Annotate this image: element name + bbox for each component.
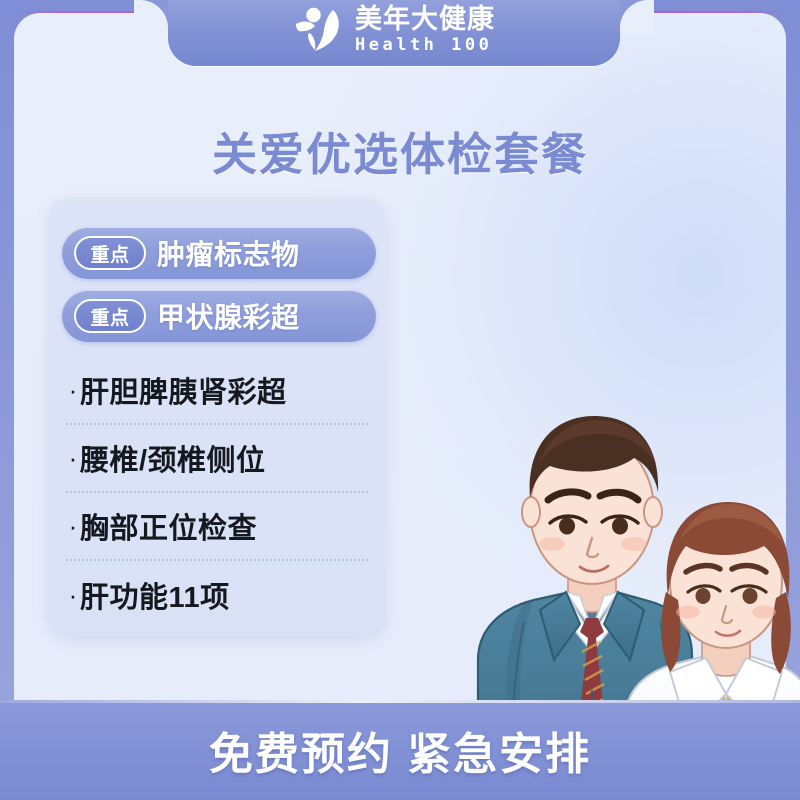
list-item-label: 腰椎/颈椎侧位 <box>80 437 266 479</box>
bullet-icon: · <box>66 582 80 608</box>
cta-banner-text: 免费预约 紧急安排 <box>209 718 591 782</box>
package-items-list: · 肝胆脾胰肾彩超 · 腰椎/颈椎侧位 · 胸部正位检查 · 肝功能11项 <box>66 357 368 629</box>
list-item[interactable]: · 腰椎/颈椎侧位 <box>66 425 368 493</box>
promotional-poster: 美年大健康 Health 100 关爱优选体检套餐 <box>0 0 800 800</box>
list-item-label: 胸部正位检查 <box>80 505 257 547</box>
brand-name-en: Health 100 <box>355 37 495 54</box>
highlight-item-thyroid-ultrasound[interactable]: 重点 甲状腺彩超 <box>62 290 376 342</box>
brand-lockup: 美年大健康 Health 100 <box>168 0 620 66</box>
bullet-icon: · <box>66 377 80 403</box>
highlight-label: 肿瘤标志物 <box>157 233 300 273</box>
highlight-item-tumor-markers[interactable]: 重点 肿瘤标志物 <box>62 227 376 279</box>
list-item-label: 肝胆脾胰肾彩超 <box>80 369 287 411</box>
running-figure-logo-icon <box>293 7 345 53</box>
bullet-icon: · <box>66 513 80 539</box>
brand-text: 美年大健康 Health 100 <box>355 6 495 54</box>
list-item[interactable]: · 肝功能11项 <box>66 561 368 629</box>
highlight-label: 甲状腺彩超 <box>157 296 300 336</box>
list-item-label: 肝功能11项 <box>80 574 230 616</box>
page-title: 关爱优选体检套餐 <box>0 118 800 183</box>
header-tab-corner-right <box>620 0 654 34</box>
header-tab: 美年大健康 Health 100 <box>168 0 620 66</box>
header-tab-corner-left <box>134 0 168 34</box>
package-items-card: 重点 肿瘤标志物 重点 甲状腺彩超 · 肝胆脾胰肾彩超 · 腰椎/颈椎侧位 · … <box>48 197 386 635</box>
list-item[interactable]: · 肝胆脾胰肾彩超 <box>66 357 368 425</box>
key-badge: 重点 <box>74 236 146 270</box>
cta-banner[interactable]: 免费预约 紧急安排 <box>0 700 800 800</box>
list-item[interactable]: · 胸部正位检查 <box>66 493 368 561</box>
brand-name-cn: 美年大健康 <box>355 6 495 33</box>
key-badge: 重点 <box>74 299 146 333</box>
bullet-icon: · <box>66 445 80 471</box>
